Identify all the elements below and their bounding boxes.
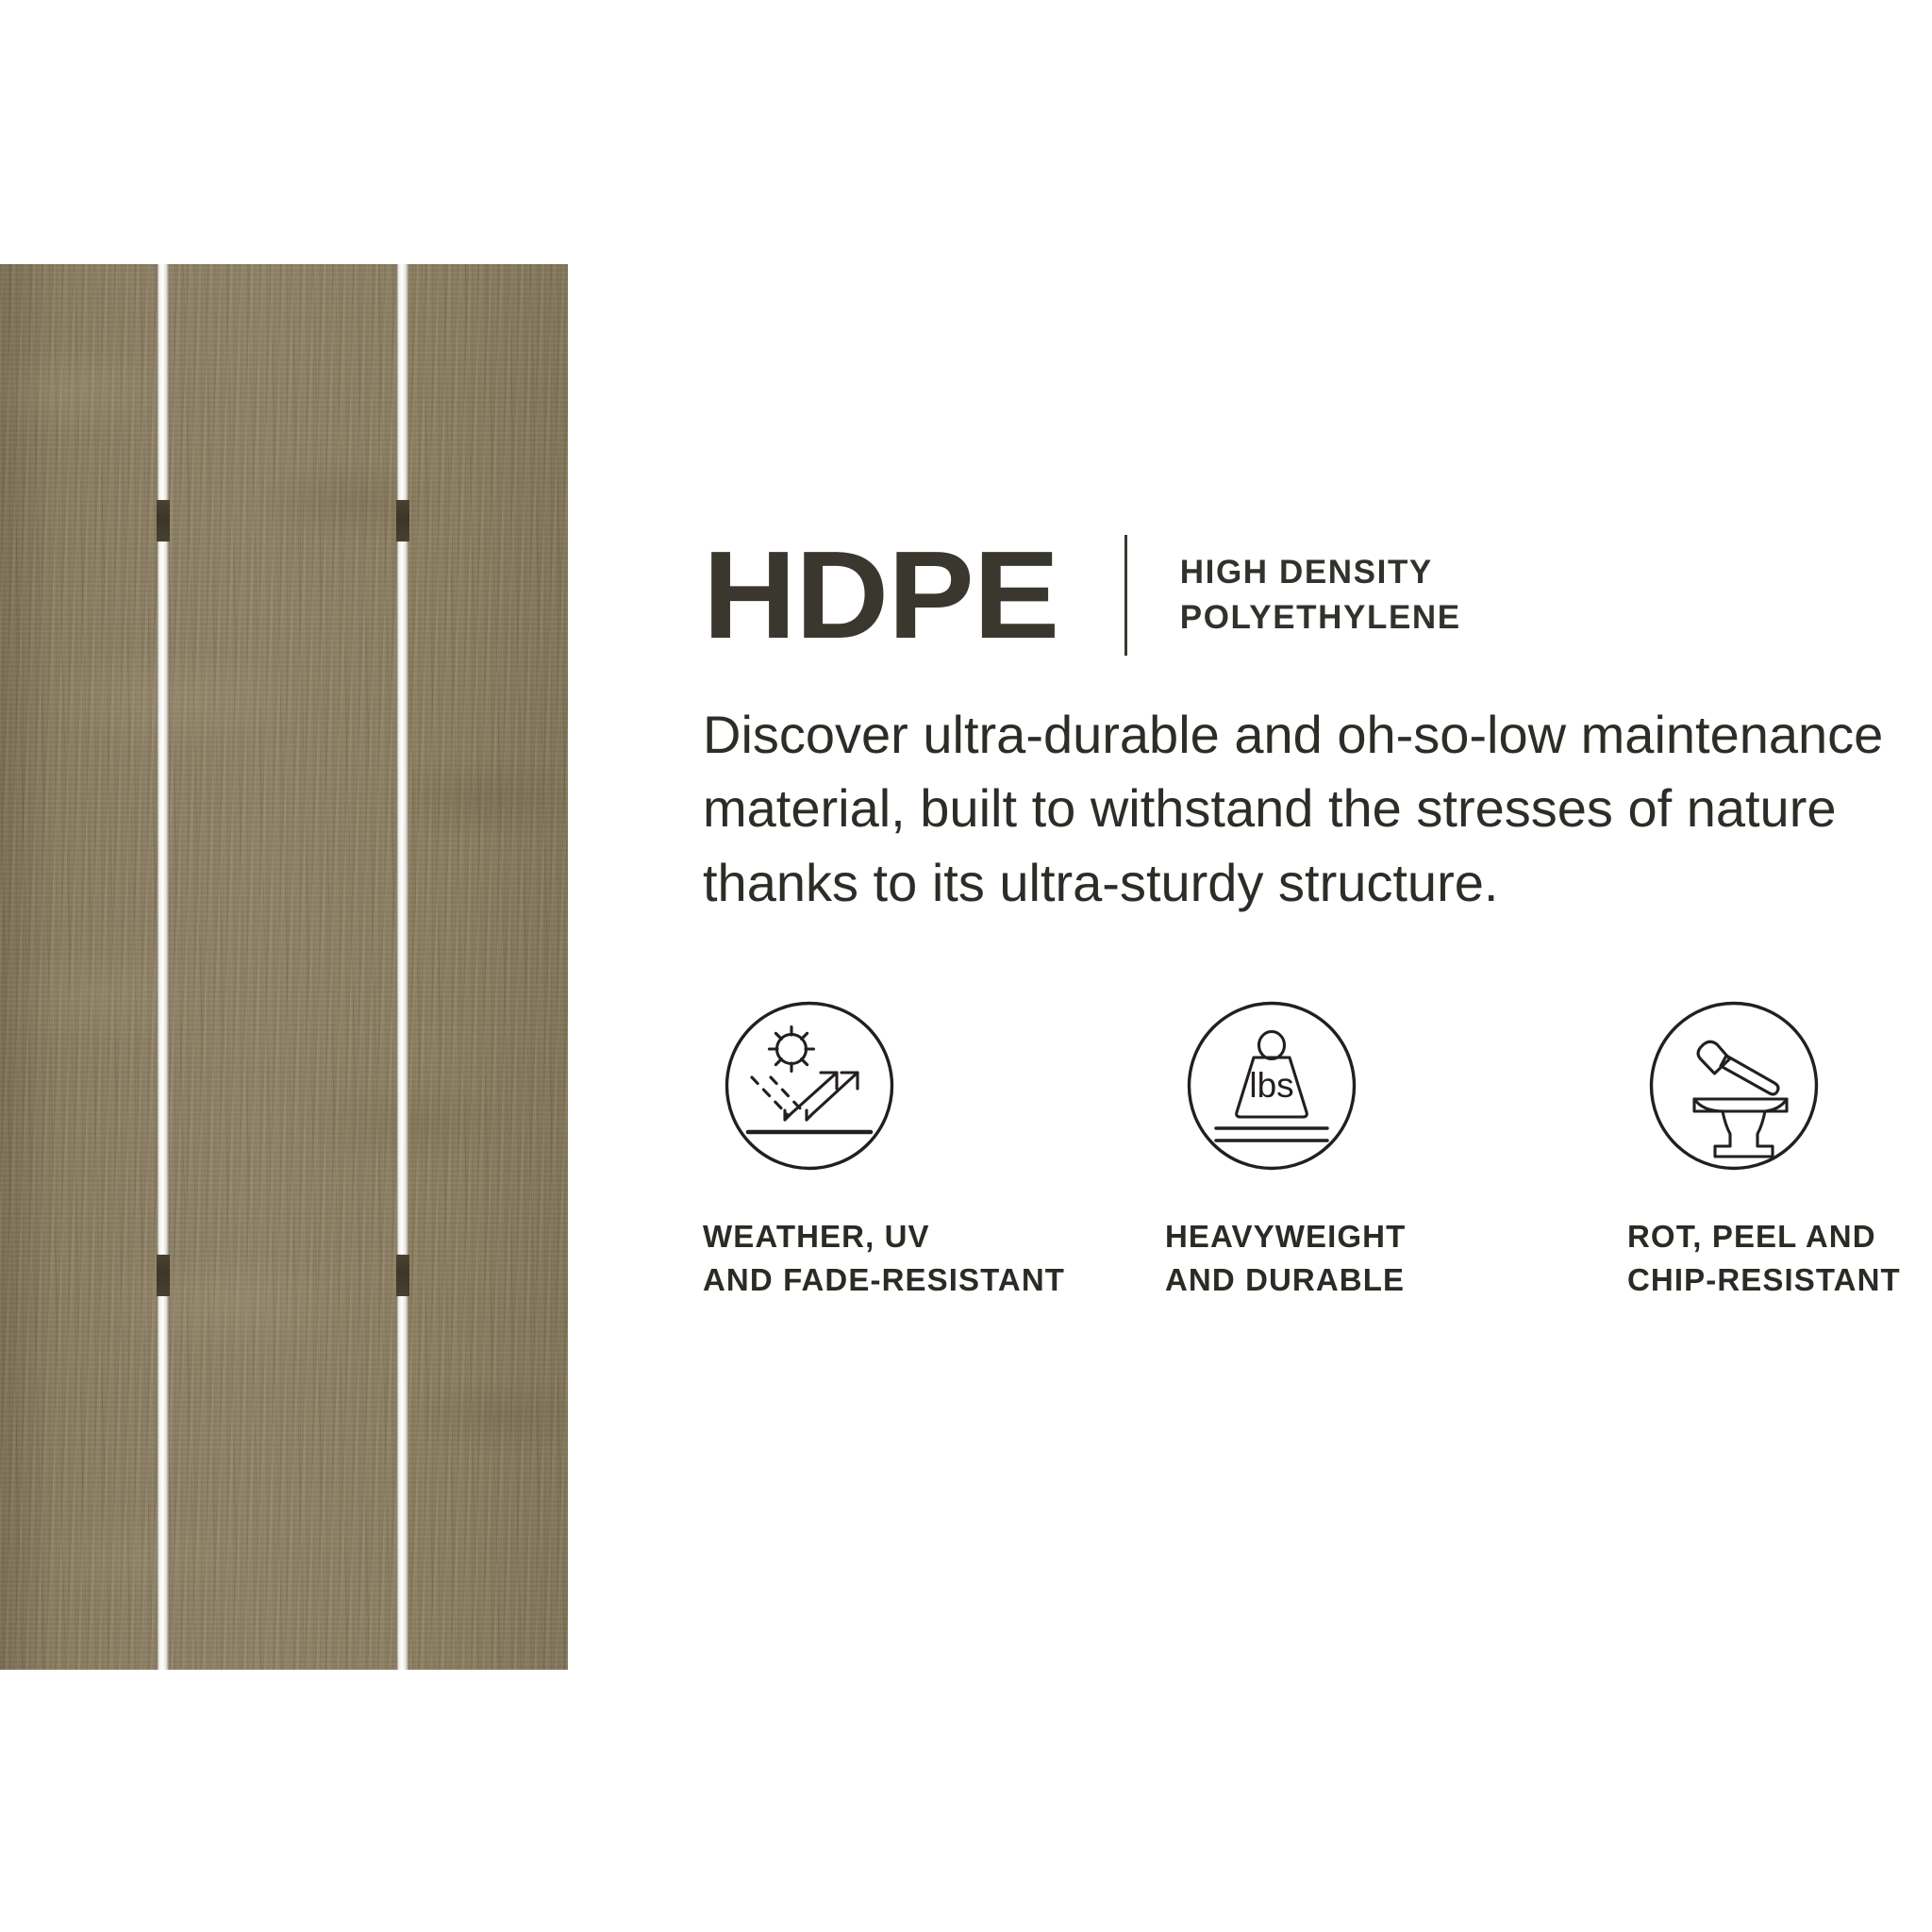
- content-column: HDPE HIGH DENSITY POLYETHYLENE Discover …: [703, 0, 1932, 1932]
- brand-lockup: HDPE HIGH DENSITY POLYETHYLENE: [703, 525, 1461, 666]
- brand-expansion: HIGH DENSITY POLYETHYLENE: [1180, 550, 1461, 641]
- feature-label: HEAVYWEIGHT AND DURABLE: [1165, 1215, 1561, 1302]
- slat-fastener: [157, 1255, 170, 1296]
- slat-gap: [396, 264, 409, 1670]
- feature-label-line1: HEAVYWEIGHT: [1165, 1219, 1406, 1254]
- product-material-panel: [0, 264, 568, 1670]
- page-title: HDPE: [703, 533, 1058, 658]
- feature-item: ROT, PEEL AND CHIP-RESISTANT: [1627, 1000, 1932, 1302]
- feature-label-line2: AND FADE-RESISTANT: [703, 1258, 1099, 1302]
- brand-expansion-line1: HIGH DENSITY: [1180, 554, 1433, 591]
- feature-item: WEATHER, UV AND FADE-RESISTANT: [703, 1000, 1099, 1302]
- brand-expansion-line2: POLYETHYLENE: [1180, 599, 1461, 636]
- weight-unit-text: lbs: [1249, 1066, 1293, 1105]
- lead-line-2: material, built to withstand the stresse…: [703, 772, 1932, 845]
- slat-fastener: [157, 500, 170, 541]
- hammer-anvil-icon: [1648, 1000, 1820, 1172]
- panel-shading: [0, 264, 568, 1670]
- lead-line-1: Discover ultra-durable and oh-so-low mai…: [703, 698, 1932, 772]
- feature-label-line2: CHIP-RESISTANT: [1627, 1258, 1932, 1302]
- feature-label-line1: ROT, PEEL AND: [1627, 1219, 1876, 1254]
- title-divider: [1124, 535, 1127, 656]
- sun-uv-reflect-icon: [724, 1000, 895, 1172]
- lead-paragraph: Discover ultra-durable and oh-so-low mai…: [703, 698, 1932, 920]
- weight-lbs-icon: lbs: [1186, 1000, 1357, 1172]
- slat-fastener: [396, 1255, 409, 1296]
- feature-label-line2: AND DURABLE: [1165, 1258, 1561, 1302]
- infographic-canvas: HDPE HIGH DENSITY POLYETHYLENE Discover …: [0, 0, 1932, 1932]
- slat-fastener: [396, 500, 409, 541]
- feature-label: WEATHER, UV AND FADE-RESISTANT: [703, 1215, 1099, 1302]
- lead-line-3: thanks to its ultra-sturdy structure.: [703, 846, 1932, 920]
- feature-item: lbs HEAVYWEIGHT AND DURABLE: [1165, 1000, 1561, 1302]
- feature-label: ROT, PEEL AND CHIP-RESISTANT: [1627, 1215, 1932, 1302]
- slat-gap: [157, 264, 170, 1670]
- feature-label-line1: WEATHER, UV: [703, 1219, 930, 1254]
